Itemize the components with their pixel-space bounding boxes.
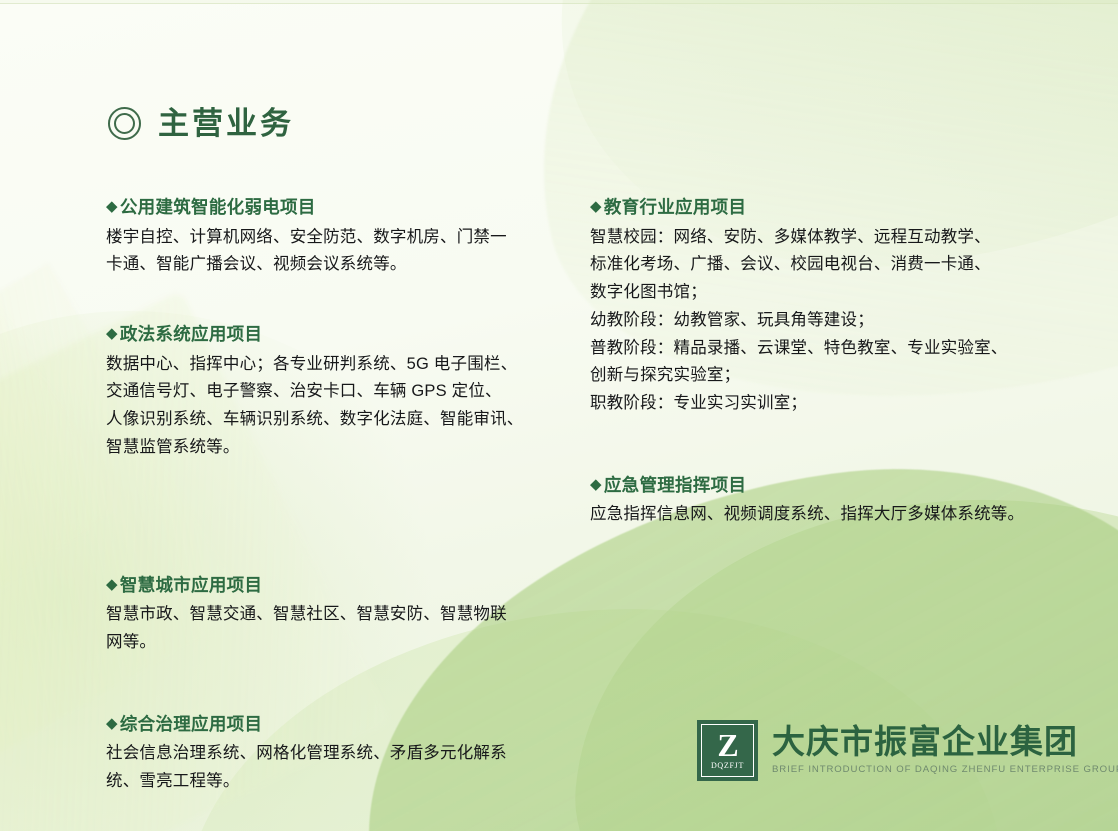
service-heading: ◆ 应急管理指挥项目 [590,474,1042,498]
service-body: 楼宇自控、计算机网络、安全防范、数字机房、门禁一 卡通、智能广播会议、视频会议系… [106,224,546,279]
body-line: 智慧监管系统等。 [106,434,546,462]
body-line: 人像识别系统、车辆识别系统、数字化法庭、智能审讯、 [106,406,546,434]
body-line: 数据中心、指挥中心；各专业研判系统、5G 电子围栏、 [106,351,546,379]
service-heading: ◆ 综合治理应用项目 [106,713,546,737]
body-line: 交通信号灯、电子警察、治安卡口、车辆 GPS 定位、 [106,378,546,406]
diamond-bullet-icon: ◆ [106,196,118,219]
left-column: ◆ 公用建筑智能化弱电项目 楼宇自控、计算机网络、安全防范、数字机房、门禁一 卡… [106,196,546,796]
service-body: 智慧校园：网络、安防、多媒体教学、远程互动教学、 标准化考场、广播、会议、校园电… [590,224,1042,418]
service-block-public-building: ◆ 公用建筑智能化弱电项目 楼宇自控、计算机网络、安全防范、数字机房、门禁一 卡… [106,196,546,279]
body-line: 智慧市政、智慧交通、智慧社区、智慧安防、智慧物联 [106,601,546,629]
body-line: 楼宇自控、计算机网络、安全防范、数字机房、门禁一 [106,224,546,252]
page-title: 主营业务 [158,108,294,139]
service-heading-label: 教育行业应用项目 [604,196,746,220]
service-heading-label: 政法系统应用项目 [120,323,262,347]
company-name-en: BRIEF INTRODUCTION OF DAQING ZHENFU ENTE… [772,764,1118,776]
body-line: 数字化图书馆； [590,279,1042,307]
body-line: 职教阶段：专业实习实训室； [590,390,1042,418]
body-line: 标准化考场、广播、会议、校园电视台、消费一卡通、 [590,251,1042,279]
service-body: 数据中心、指挥中心；各专业研判系统、5G 电子围栏、 交通信号灯、电子警察、治安… [106,351,546,462]
service-heading-label: 公用建筑智能化弱电项目 [120,196,316,220]
service-heading-label: 智慧城市应用项目 [120,574,262,598]
double-circle-icon [108,107,141,140]
body-line: 社会信息治理系统、网格化管理系统、矛盾多元化解系 [106,740,546,768]
diamond-bullet-icon: ◆ [106,713,118,736]
body-line: 统、雪亮工程等。 [106,768,546,796]
spacer [106,462,546,574]
spacer [106,279,546,323]
right-column: ◆ 教育行业应用项目 智慧校园：网络、安防、多媒体教学、远程互动教学、 标准化考… [590,196,1042,529]
spacer [106,657,546,713]
service-block-legal-system: ◆ 政法系统应用项目 数据中心、指挥中心；各专业研判系统、5G 电子围栏、 交通… [106,323,546,462]
service-heading: ◆ 教育行业应用项目 [590,196,1042,220]
spacer [590,418,1042,474]
body-line: 普教阶段：精品录播、云课堂、特色教室、专业实验室、 [590,335,1042,363]
logo-abbreviation: DQZFJT [711,761,744,770]
service-body: 智慧市政、智慧交通、智慧社区、智慧安防、智慧物联 网等。 [106,601,546,656]
body-line: 智慧校园：网络、安防、多媒体教学、远程互动教学、 [590,224,1042,252]
logo-mark-frame: Z DQZFJT [701,724,754,777]
page-title-row: 主营业务 [108,107,294,140]
service-heading: ◆ 公用建筑智能化弱电项目 [106,196,546,220]
service-heading: ◆ 政法系统应用项目 [106,323,546,347]
body-line: 应急指挥信息网、视频调度系统、指挥大厅多媒体系统等。 [590,501,1042,529]
service-heading-label: 综合治理应用项目 [120,713,262,737]
diamond-bullet-icon: ◆ [590,196,602,219]
logo-text-block: 大庆市振富企业集团 BRIEF INTRODUCTION OF DAQING Z… [772,724,1118,776]
service-body: 应急指挥信息网、视频调度系统、指挥大厅多媒体系统等。 [590,501,1042,529]
company-logo: Z DQZFJT 大庆市振富企业集团 BRIEF INTRODUCTION OF… [697,720,1118,781]
service-block-comprehensive-governance: ◆ 综合治理应用项目 社会信息治理系统、网格化管理系统、矛盾多元化解系 统、雪亮… [106,713,546,796]
service-block-education: ◆ 教育行业应用项目 智慧校园：网络、安防、多媒体教学、远程互动教学、 标准化考… [590,196,1042,418]
body-line: 创新与探究实验室； [590,362,1042,390]
service-body: 社会信息治理系统、网格化管理系统、矛盾多元化解系 统、雪亮工程等。 [106,740,546,795]
body-line: 幼教阶段：幼教管家、玩具角等建设； [590,307,1042,335]
body-line: 卡通、智能广播会议、视频会议系统等。 [106,251,546,279]
logo-mark-icon: Z DQZFJT [697,720,758,781]
brochure-page: 主营业务 ◆ 公用建筑智能化弱电项目 楼宇自控、计算机网络、安全防范、数字机房、… [0,0,1118,831]
diamond-bullet-icon: ◆ [106,574,118,597]
service-heading: ◆ 智慧城市应用项目 [106,574,546,598]
company-name-cn: 大庆市振富企业集团 [772,724,1118,761]
diamond-bullet-icon: ◆ [106,323,118,346]
logo-letter: Z [717,731,737,760]
service-block-emergency-management: ◆ 应急管理指挥项目 应急指挥信息网、视频调度系统、指挥大厅多媒体系统等。 [590,474,1042,529]
service-block-smart-city: ◆ 智慧城市应用项目 智慧市政、智慧交通、智慧社区、智慧安防、智慧物联 网等。 [106,574,546,657]
diamond-bullet-icon: ◆ [590,474,602,497]
page-content: 主营业务 ◆ 公用建筑智能化弱电项目 楼宇自控、计算机网络、安全防范、数字机房、… [0,0,1118,831]
service-heading-label: 应急管理指挥项目 [604,474,746,498]
body-line: 网等。 [106,629,546,657]
